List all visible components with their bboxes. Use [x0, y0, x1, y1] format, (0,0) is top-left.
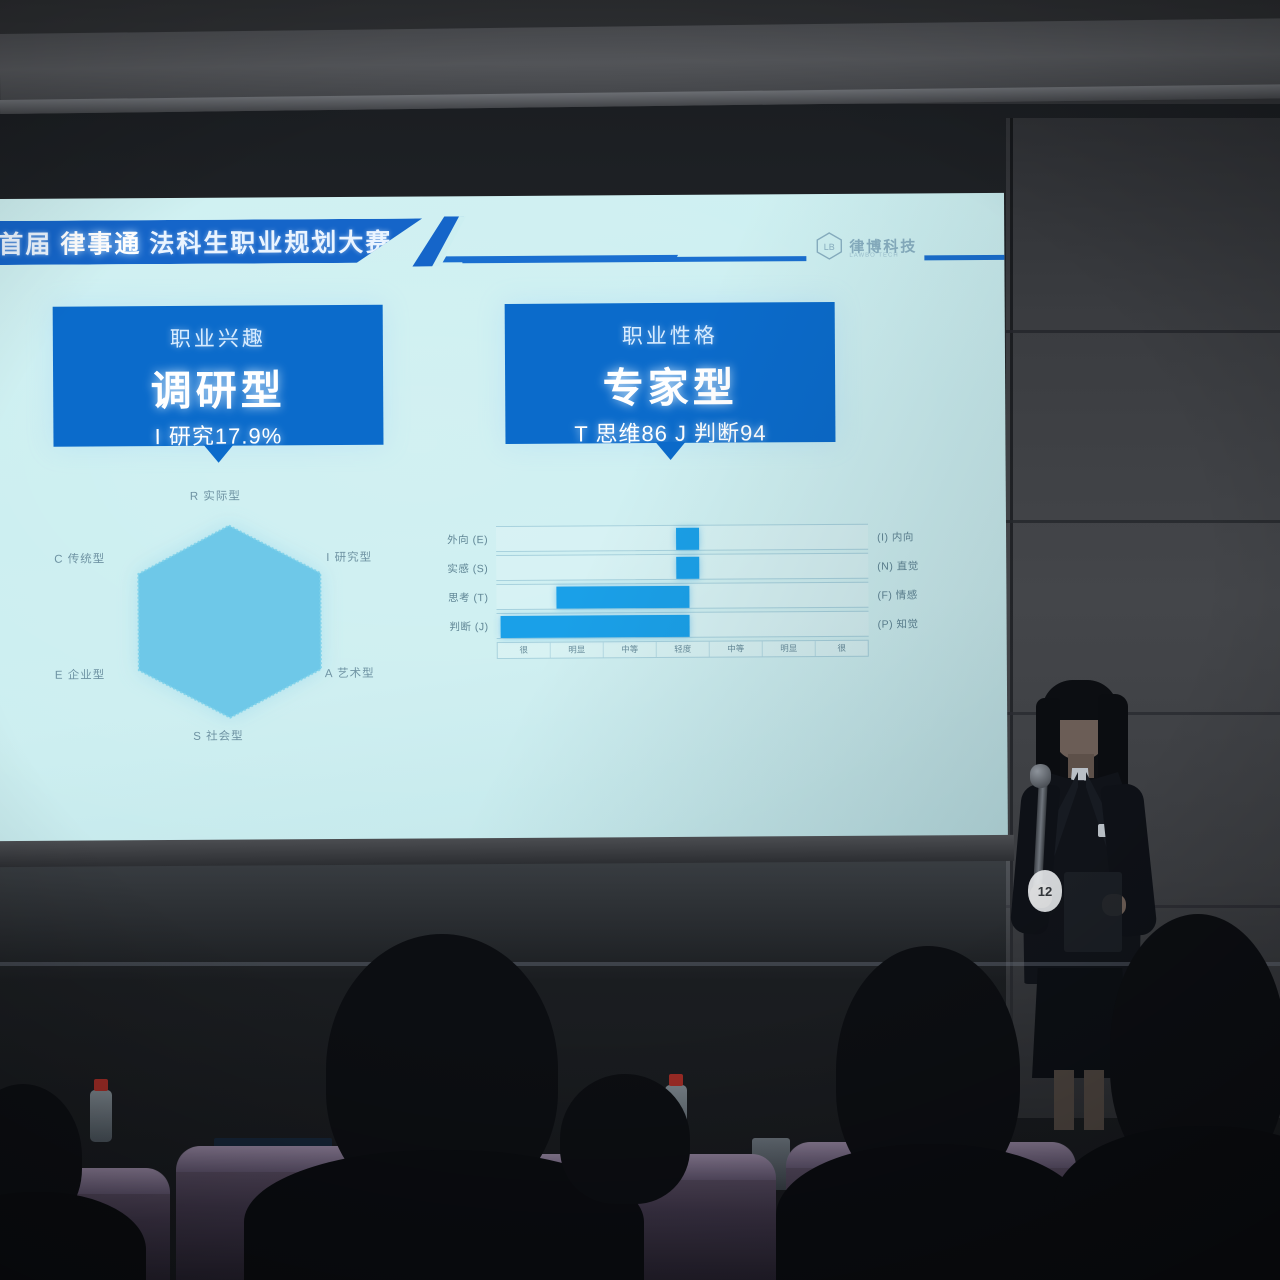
mbti-axis-tick: 中等	[710, 641, 763, 656]
audience-shoulders-3	[1054, 1126, 1280, 1280]
header-rule-long	[462, 256, 806, 263]
hex-label-investigative: I 研究型	[326, 549, 372, 565]
mbti-right-label: (N) 直觉	[868, 558, 934, 573]
projection-screen-frame: 首届律事通法科生职业规划大赛 LB 律博科技 LAWBO TECH	[0, 193, 1008, 859]
mbti-row: 判断 (J)(P) 知觉	[435, 610, 935, 639]
audience-head-4	[560, 1074, 690, 1204]
callout-interest-headline: 调研型	[53, 356, 383, 418]
mbti-row: 思考 (T)(F) 情感	[434, 581, 934, 610]
mbti-left-label: 实感 (S)	[434, 561, 496, 576]
callout-career-interest: 职业兴趣 调研型 I 研究17.9%	[53, 305, 384, 447]
projected-slide: 首届律事通法科生职业规划大赛 LB 律博科技 LAWBO TECH	[0, 193, 1008, 849]
header-title-suffix: 法科生职业规划大赛	[149, 229, 392, 258]
header-title-prefix: 首届	[0, 231, 52, 259]
mbti-axis-tick: 中等	[604, 642, 657, 657]
wall-seam-1	[1006, 330, 1280, 333]
hex-label-enterprising: E 企业型	[55, 666, 105, 682]
desk-edge-line	[0, 962, 1280, 966]
callout-interest-tag: 职业兴趣	[53, 322, 383, 354]
mbti-axis-tick: 很	[816, 641, 868, 656]
mbti-track	[496, 582, 868, 610]
mbti-track	[496, 553, 868, 581]
mbti-left-label: 外向 (E)	[434, 532, 496, 547]
mbti-right-label: (I) 内向	[868, 529, 934, 544]
water-bottle-2	[90, 1090, 112, 1142]
callout-personality-tag: 职业性格	[505, 319, 835, 351]
hexagon-logo-icon: LB	[816, 232, 842, 260]
mbti-axis-tick: 很	[498, 643, 551, 658]
mbti-bar	[676, 528, 698, 550]
conference-photo-scene: 首届律事通法科生职业规划大赛 LB 律博科技 LAWBO TECH	[0, 0, 1280, 1280]
mbti-bar-chart: 外向 (E)(I) 内向实感 (S)(N) 直觉思考 (T)(F) 情感判断 (…	[434, 523, 935, 686]
mbti-axis: 很明显中等轻度中等明显很	[497, 640, 869, 659]
mbti-axis-tick: 轻度	[657, 642, 710, 657]
hex-label-conventional: C 传统型	[54, 550, 105, 566]
mbti-left-label: 思考 (T)	[434, 590, 496, 605]
hex-label-realistic: R 实际型	[190, 488, 241, 504]
hex-label-social: S 社会型	[193, 728, 243, 744]
mbti-bar	[556, 586, 690, 609]
callout-personality-pointer	[655, 442, 685, 460]
svg-text:LB: LB	[824, 242, 835, 252]
mbti-right-label: (F) 情感	[868, 587, 934, 602]
hexagon-shape	[134, 521, 325, 722]
mbti-axis-tick: 明显	[763, 641, 816, 656]
sponsor-logo: LB 律博科技 LAWBO TECH	[816, 231, 917, 260]
mbti-track	[496, 524, 868, 552]
hex-label-artistic: A 艺术型	[325, 665, 375, 681]
mbti-row: 外向 (E)(I) 内向	[434, 523, 934, 552]
header-brand: 律事通	[55, 224, 146, 261]
callout-career-personality: 职业性格 专家型 T 思维86 J 判断94	[505, 302, 836, 444]
riasec-hexagon-chart: R 实际型 I 研究型 A 艺术型 S 社会型 E 企业型 C 传统型	[24, 464, 446, 767]
slide-header-title: 首届律事通法科生职业规划大赛	[0, 223, 392, 261]
mbti-axis-tick: 明显	[551, 642, 604, 657]
audience-shoulders-2	[776, 1144, 1086, 1280]
audience-foreground	[0, 900, 1280, 1280]
header-rule-short	[924, 255, 1008, 261]
wall-seam-2	[1006, 520, 1280, 523]
mbti-track	[497, 611, 869, 639]
mbti-row: 实感 (S)(N) 直觉	[434, 552, 934, 581]
mbti-bar	[500, 615, 690, 638]
bottle-cap-2	[94, 1079, 108, 1091]
slide-header: 首届律事通法科生职业规划大赛 LB 律博科技 LAWBO TECH	[0, 215, 1004, 279]
bottle-cap	[669, 1074, 683, 1086]
slide-header-band: 首届律事通法科生职业规划大赛	[0, 218, 422, 265]
sponsor-logo-subtext: LAWBO TECH	[849, 253, 898, 259]
mbti-right-label: (P) 知觉	[869, 616, 935, 631]
callout-interest-pointer	[203, 445, 233, 463]
mbti-left-label: 判断 (J)	[435, 619, 497, 634]
mbti-bar	[677, 557, 699, 579]
callout-personality-headline: 专家型	[505, 353, 835, 415]
microphone-icon	[1030, 764, 1051, 788]
